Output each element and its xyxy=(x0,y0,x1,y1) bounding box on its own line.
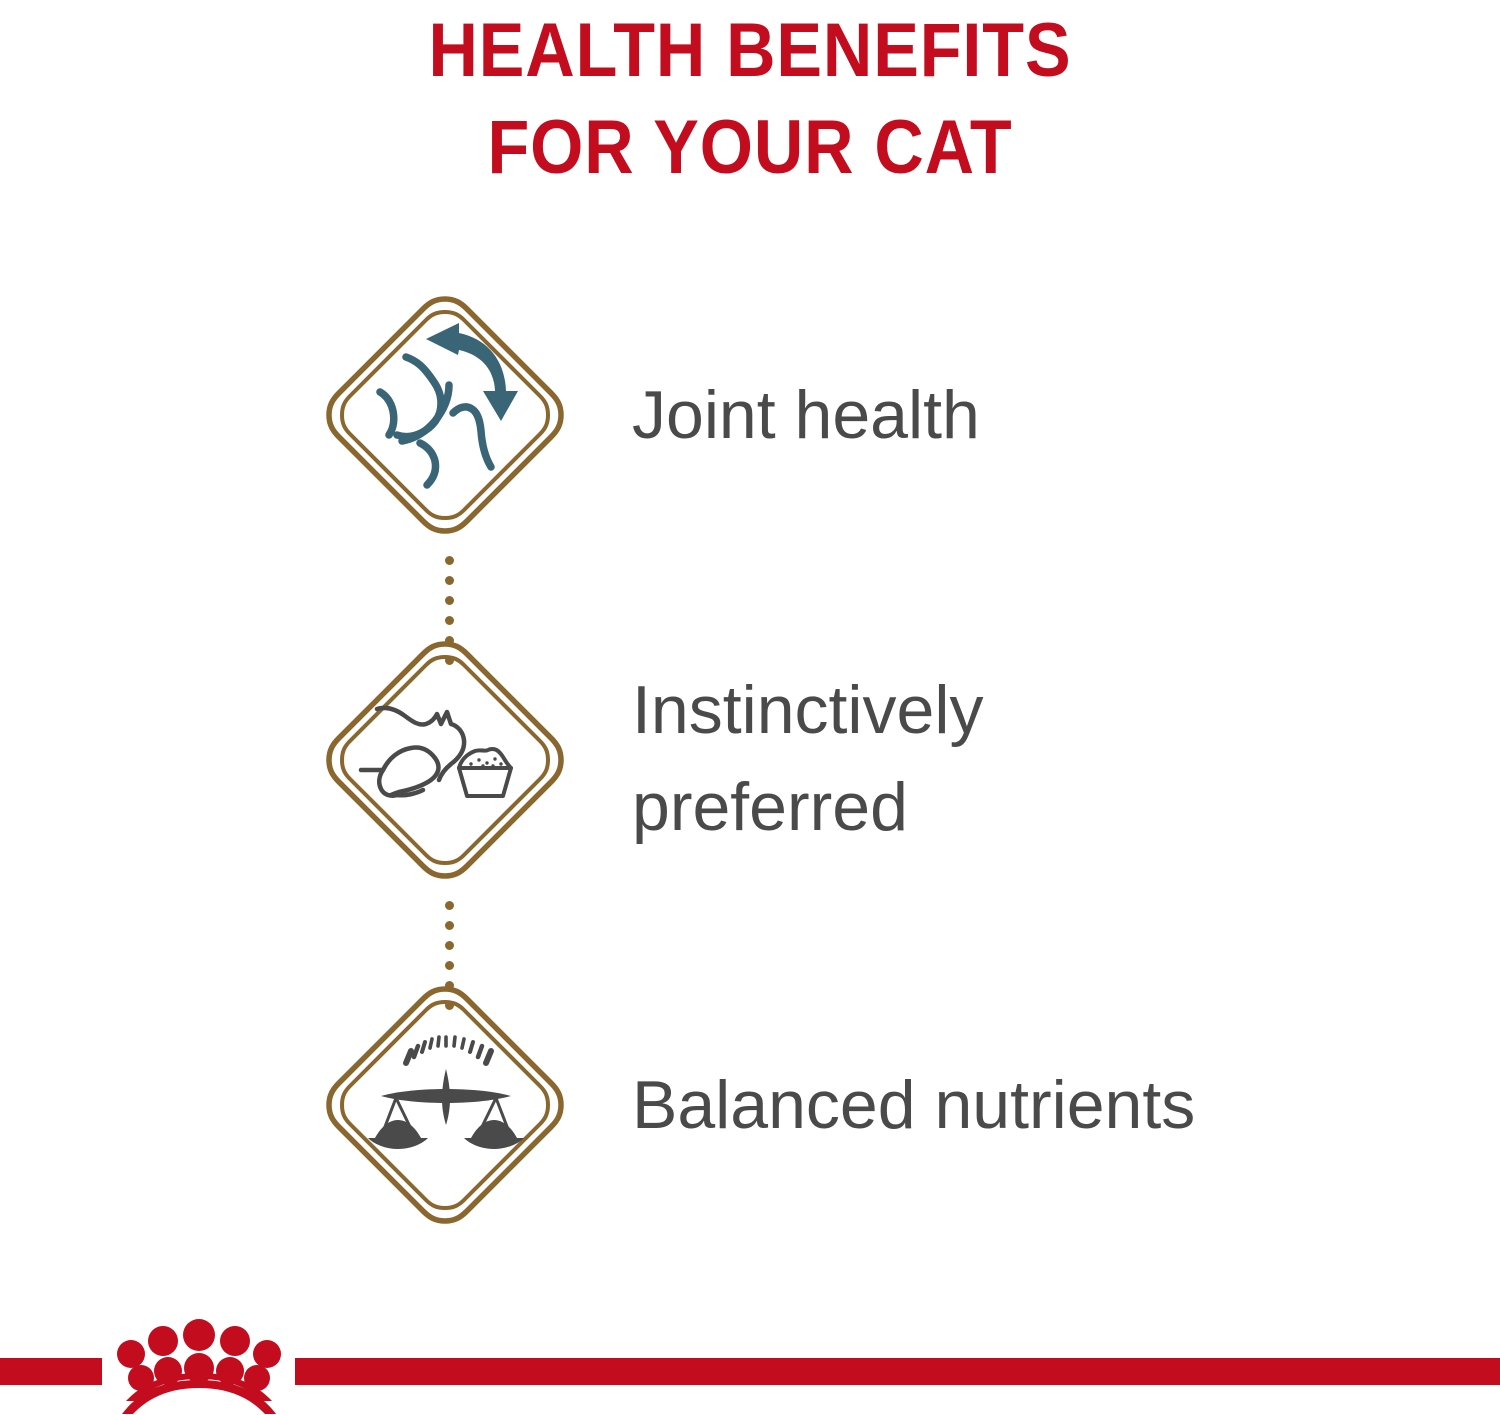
connector-dot xyxy=(445,921,454,930)
royal-canin-crown-logo xyxy=(108,1318,290,1415)
connector-dot xyxy=(445,901,454,910)
footer-brand-bar xyxy=(0,1318,1500,1415)
page-title-line-1: HEALTH BENEFITS xyxy=(75,2,1425,99)
connector-dot xyxy=(445,941,454,950)
connector-dot xyxy=(445,616,454,625)
brand-bar-right xyxy=(295,1358,1500,1385)
connector-dot xyxy=(445,556,454,565)
brand-bar-left xyxy=(0,1358,102,1385)
health-benefits-infographic: HEALTH BENEFITS FOR YOUR CAT xyxy=(0,0,1500,1415)
benefit-label: Instinctively preferred xyxy=(632,662,983,856)
connector-dot xyxy=(445,961,454,970)
connector-dot xyxy=(445,596,454,605)
cat-eating-bowl-icon xyxy=(325,640,565,880)
page-title: HEALTH BENEFITS FOR YOUR CAT xyxy=(0,2,1500,196)
benefit-label: Balanced nutrients xyxy=(632,1057,1195,1154)
benefit-row: Joint health xyxy=(0,295,1500,535)
connector-dot xyxy=(445,576,454,585)
joint-health-icon xyxy=(325,295,565,535)
page-title-line-2: FOR YOUR CAT xyxy=(75,99,1425,196)
benefit-label: Joint health xyxy=(632,367,980,464)
benefit-row: Instinctively preferred xyxy=(0,640,1500,880)
balance-scale-icon xyxy=(325,985,565,1225)
benefit-row: Balanced nutrients xyxy=(0,985,1500,1225)
